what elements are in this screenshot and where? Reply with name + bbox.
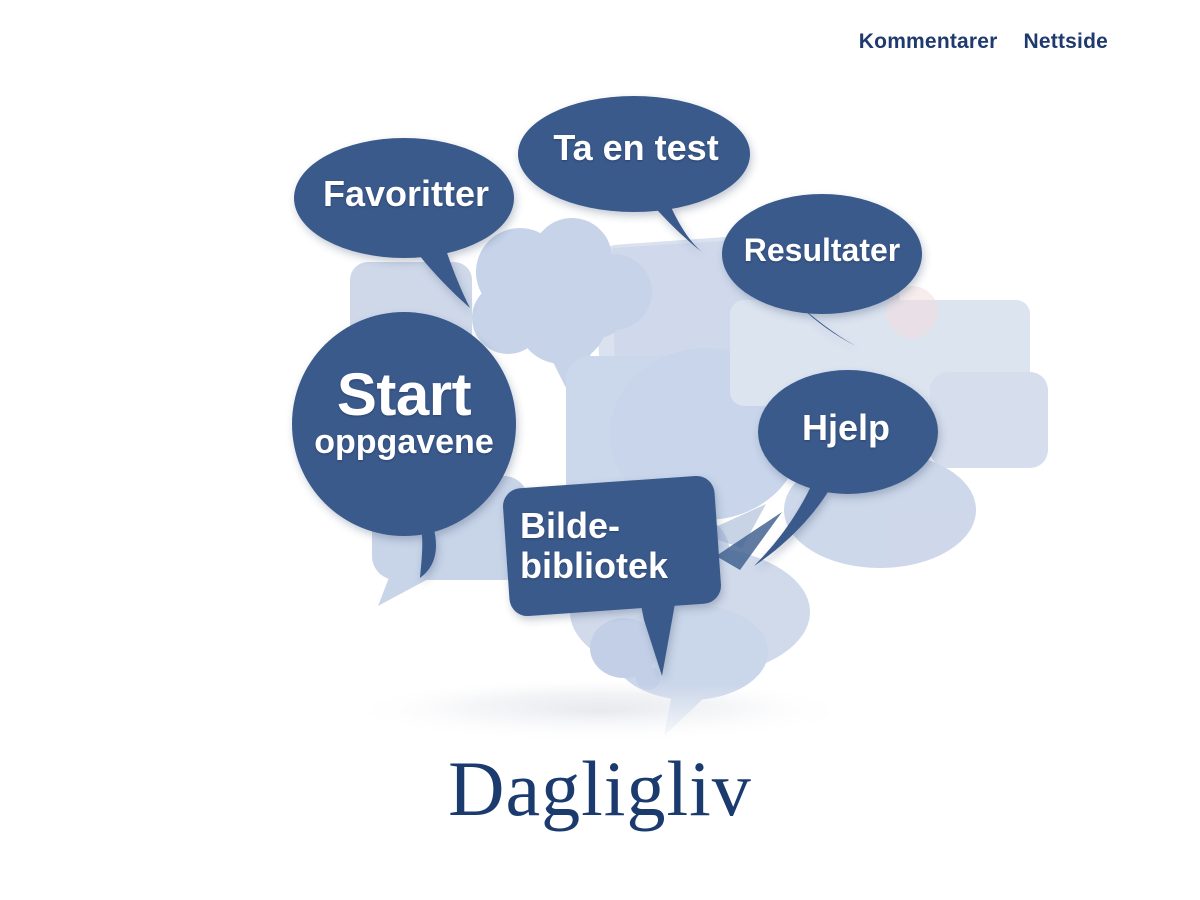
menu-item-start-oppgavene[interactable] (292, 312, 516, 536)
menu-item-hjelp[interactable] (758, 370, 938, 494)
nav-link-nettside[interactable]: Nettside (1024, 30, 1108, 54)
menu-item-resultater[interactable] (722, 194, 922, 314)
top-navigation: Kommentarer Nettside (859, 30, 1108, 54)
wordmark-dagligliv: Dagligliv (0, 744, 1200, 834)
app-stage: Kommentarer Nettside (0, 0, 1200, 900)
menu-item-bilde-bibliotek[interactable] (506, 478, 720, 612)
nav-link-kommentarer[interactable]: Kommentarer (859, 30, 998, 54)
menu-item-favoritter[interactable] (294, 138, 514, 258)
menu-item-ta-en-test[interactable] (518, 96, 750, 212)
